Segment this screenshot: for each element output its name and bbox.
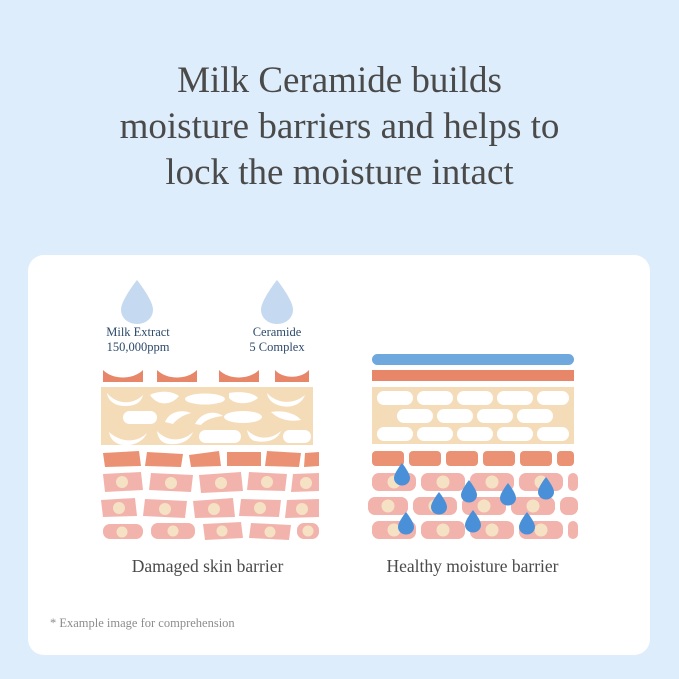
damaged-cell-row-2	[101, 498, 319, 518]
ingredient-label-milk-extract: Milk Extract 150,000ppm	[73, 325, 203, 355]
healthy-brick-gaps	[377, 391, 569, 441]
damaged-cell-row-3	[103, 522, 319, 540]
caption-damaged-skin-barrier: Damaged skin barrier	[95, 556, 320, 577]
caption-healthy-moisture-barrier: Healthy moisture barrier	[360, 556, 585, 577]
damaged-mid-layer	[103, 451, 319, 467]
page-title: Milk Ceramide builds moisture barriers a…	[0, 58, 679, 196]
damaged-cell-row-1	[103, 472, 319, 493]
damaged-skin-diagram	[95, 362, 320, 542]
page-title-line-2: moisture barriers and helps to	[0, 104, 679, 150]
water-droplet-icon-milk-extract	[113, 278, 161, 326]
healthy-surface-layer	[372, 370, 574, 381]
water-droplet-icon-ceramide	[253, 278, 301, 326]
ingredient-name-ceramide: Ceramide	[253, 325, 302, 339]
ingredient-amount-milk-extract: 150,000ppm	[73, 340, 203, 355]
healthy-protective-layer	[372, 354, 574, 365]
infographic-page: Milk Ceramide builds moisture barriers a…	[0, 0, 679, 679]
ingredient-name-milk-extract: Milk Extract	[106, 325, 170, 339]
damaged-surface-layer	[103, 370, 309, 382]
page-title-line-1: Milk Ceramide builds	[0, 58, 679, 104]
page-title-line-3: lock the moisture intact	[0, 150, 679, 196]
healthy-skin-diagram	[368, 352, 578, 542]
ingredient-label-ceramide: Ceramide 5 Complex	[212, 325, 342, 355]
footnote: * Example image for comprehension	[50, 616, 235, 631]
ingredient-amount-ceramide: 5 Complex	[212, 340, 342, 355]
